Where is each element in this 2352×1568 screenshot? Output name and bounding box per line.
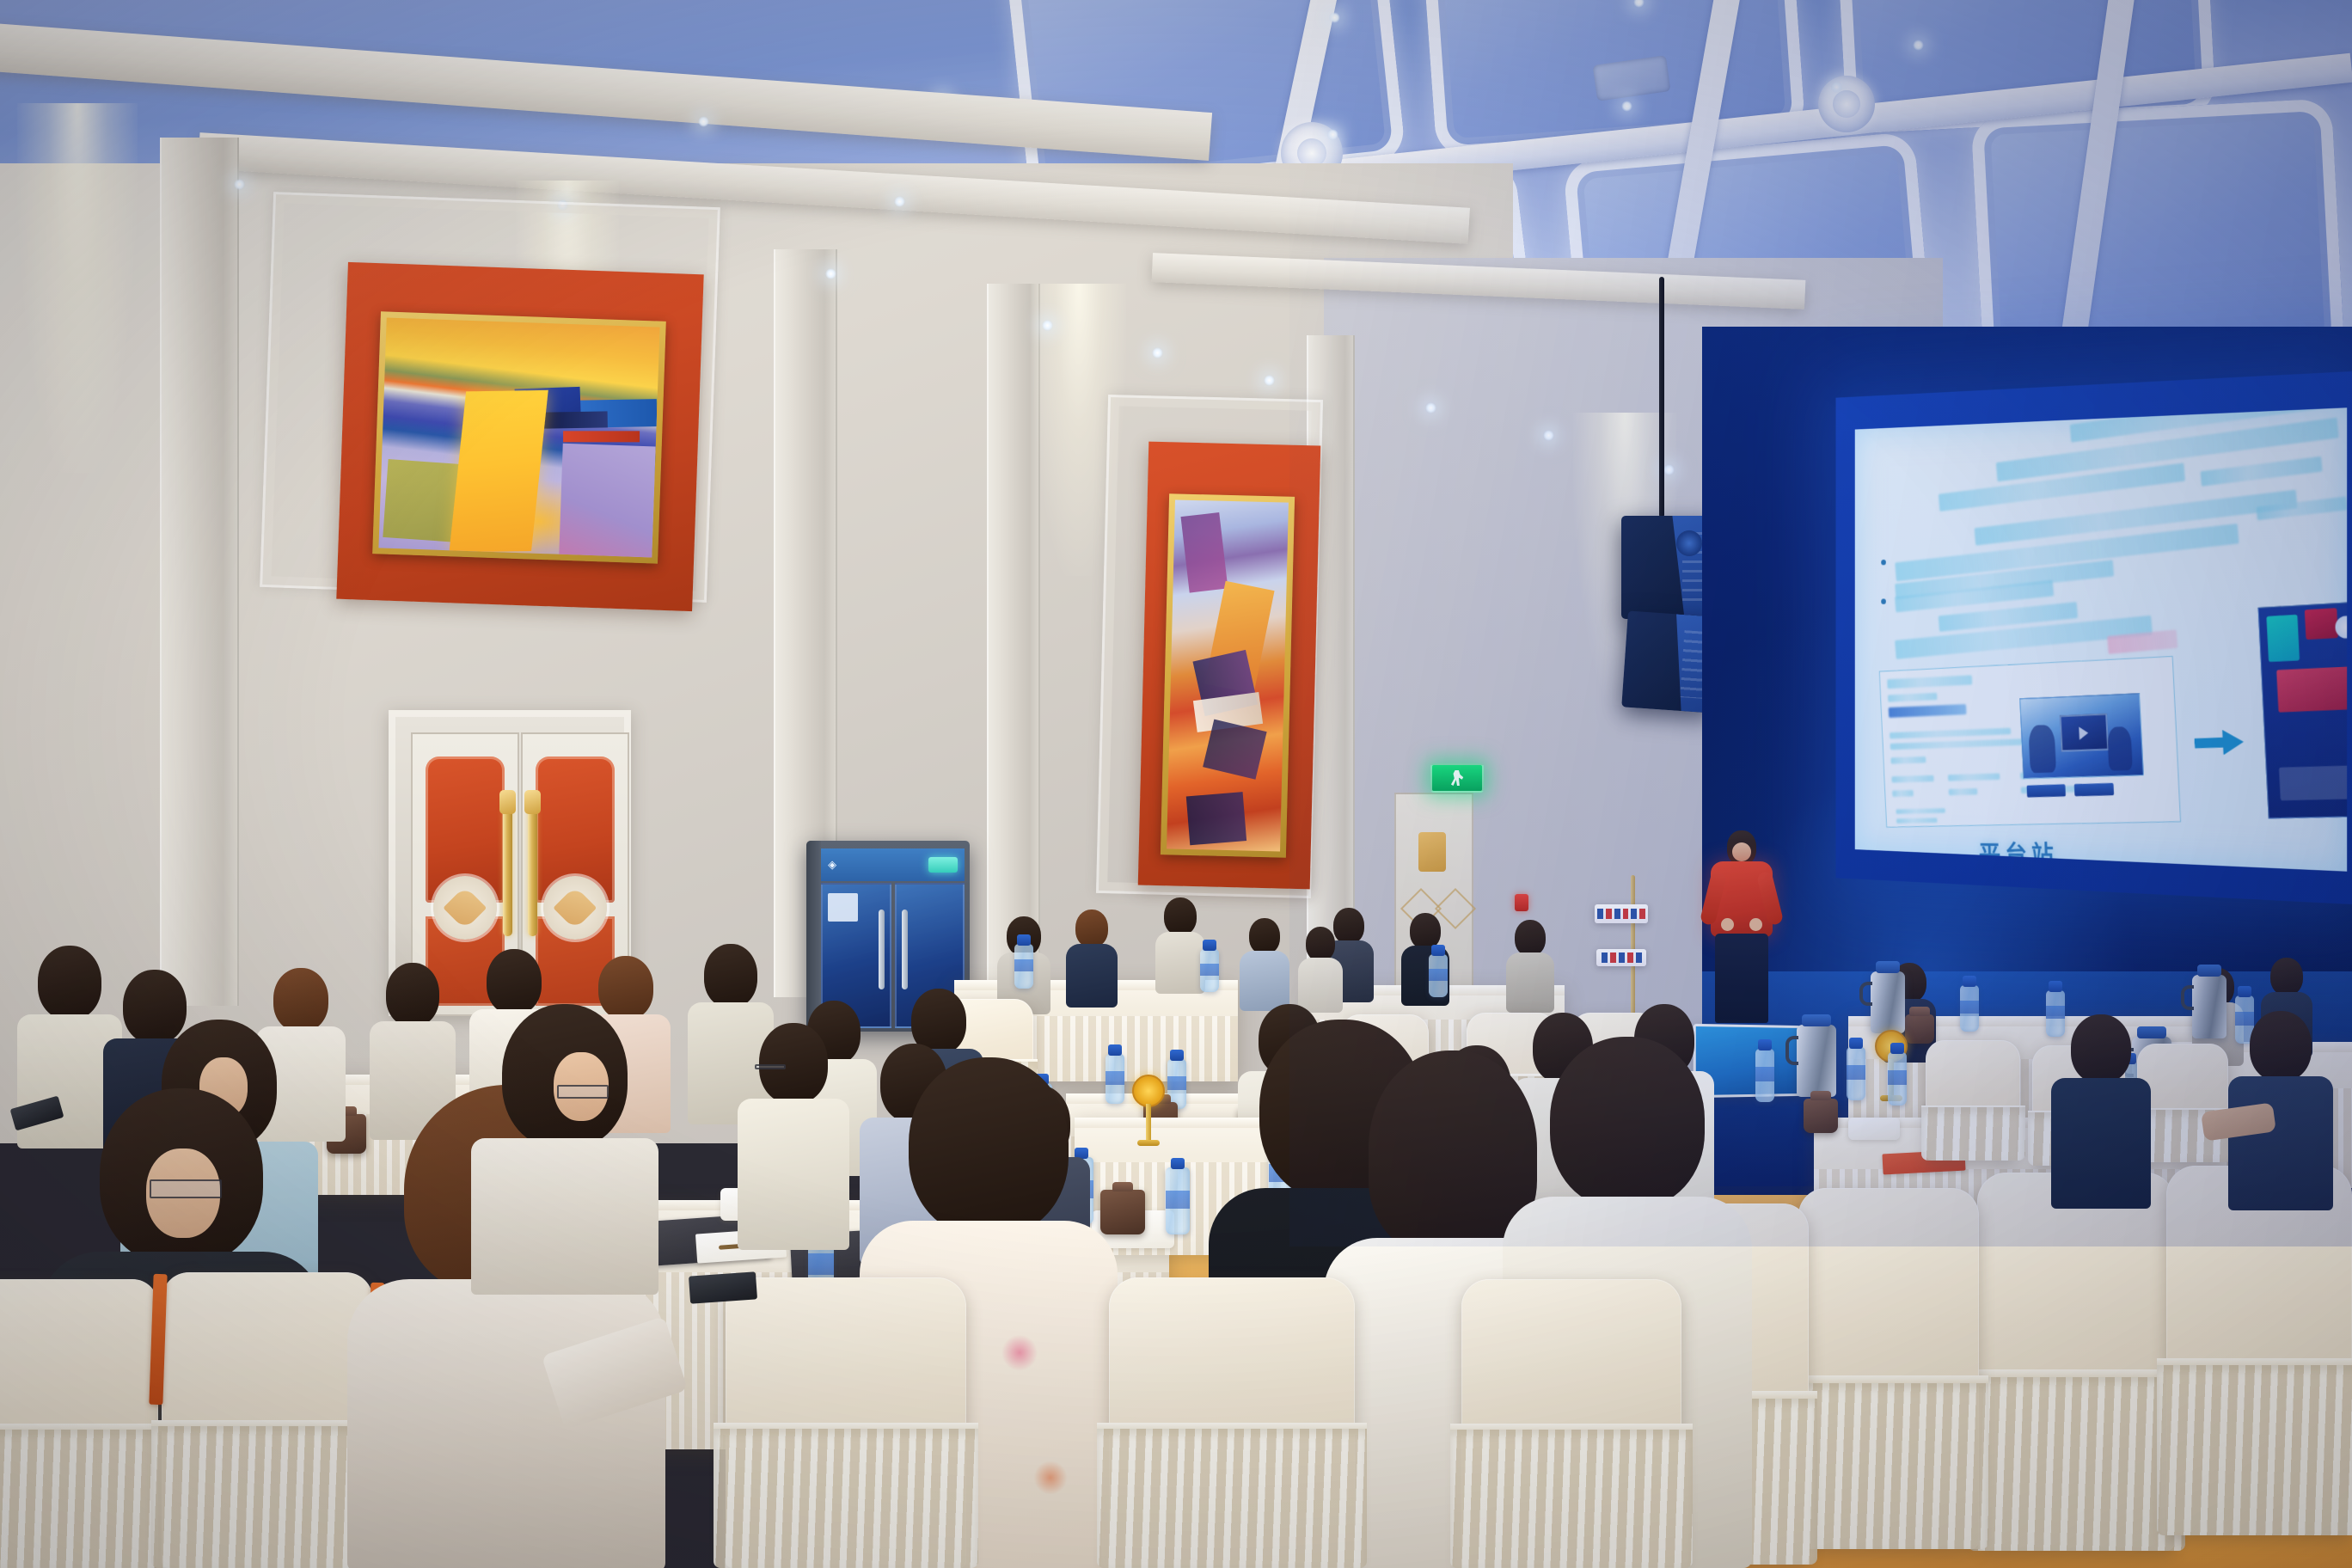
wall-downlight xyxy=(894,196,905,207)
ceiling-spotlight xyxy=(1329,12,1340,23)
banquet-chair xyxy=(1977,1173,2175,1551)
door-ornament xyxy=(1418,832,1446,872)
presenter-hand-left xyxy=(1721,918,1734,931)
slide-thumbnail-button xyxy=(2026,784,2066,797)
thermos-flask xyxy=(1797,1025,1836,1097)
right-arrow-icon xyxy=(2194,729,2245,756)
speaker-suspension-pole xyxy=(1659,277,1664,518)
banquet-chair xyxy=(1926,1040,2020,1161)
presenter xyxy=(1699,830,1785,1028)
abstract-landscape-canvas xyxy=(378,318,659,558)
ceiling-spotlight xyxy=(1621,101,1632,112)
refrigerator-header: ◈ xyxy=(821,848,965,881)
water-bottle xyxy=(1166,1167,1190,1234)
conference-hall-photo: ◈ xyxy=(0,0,2352,1568)
banquet-chair xyxy=(1798,1188,1979,1549)
door-medallion xyxy=(433,876,497,940)
table-number-stand xyxy=(1131,1075,1166,1152)
wall-downlight xyxy=(1663,464,1675,475)
banquet-chair xyxy=(0,1279,158,1568)
attendee xyxy=(1298,927,1343,1009)
slide-caption: 平台站 xyxy=(1978,834,2058,870)
painting-frame-landscape xyxy=(372,311,666,563)
refrigerator-logo: ◈ xyxy=(828,858,837,872)
wall-downlight xyxy=(1425,402,1436,413)
slide-content-card xyxy=(1879,656,2181,828)
wall-notice-sign xyxy=(1595,904,1648,923)
water-bottle xyxy=(1755,1049,1774,1102)
water-bottle xyxy=(1847,1047,1865,1100)
attendee xyxy=(1506,920,1554,1009)
attendee xyxy=(2228,1011,2333,1207)
wall-pilaster xyxy=(987,284,1040,997)
wall-downlight xyxy=(1152,347,1163,358)
ceiling-rosette xyxy=(1818,76,1875,132)
attendee xyxy=(738,1023,849,1246)
glasses-icon xyxy=(150,1179,222,1198)
attendee xyxy=(1155,897,1205,990)
wall-downlight xyxy=(1264,375,1275,386)
thermos-flask xyxy=(2192,975,2226,1038)
wall-pilaster xyxy=(160,138,239,1006)
ceiling-spotlight xyxy=(1327,129,1338,140)
running-person-icon xyxy=(1450,770,1464,786)
glasses-icon xyxy=(755,1064,786,1069)
abstract-vertical-canvas xyxy=(1167,499,1289,851)
ceramic-teapot xyxy=(1905,1014,1934,1044)
ceiling-spotlight xyxy=(1913,40,1924,51)
slide-thumbnail-mobile-app xyxy=(2258,600,2348,818)
painting-frame-vertical xyxy=(1161,493,1295,857)
refrigerator-display xyxy=(928,857,958,873)
slide-thumbnail-button xyxy=(2074,783,2114,796)
folded-napkin xyxy=(1848,1118,1900,1140)
slide-thumbnail-meeting-room xyxy=(2019,693,2144,779)
refrigerator-label xyxy=(828,893,859,922)
projected-slide: 平台站 xyxy=(1855,407,2347,871)
attendee xyxy=(1066,910,1118,1004)
projection-screen: 平台站 xyxy=(1836,371,2352,904)
door-handle-icon[interactable] xyxy=(503,807,512,936)
wall-downlight xyxy=(698,116,709,127)
water-bottle xyxy=(1960,985,1979,1032)
presenter-face xyxy=(1732,842,1751,861)
ceiling-spotlight xyxy=(1831,82,1842,93)
fire-alarm-icon[interactable] xyxy=(1515,894,1528,911)
banquet-chair xyxy=(726,1277,966,1568)
wall-notice-sign xyxy=(1596,949,1646,966)
thermos-flask xyxy=(1871,971,1905,1033)
wall-downlight xyxy=(234,179,245,190)
ceramic-teapot xyxy=(1804,1099,1838,1133)
wall-downlight xyxy=(1543,430,1554,441)
water-bottle xyxy=(1888,1052,1907,1106)
banquet-chair xyxy=(2166,1166,2352,1535)
wall-downlight xyxy=(1042,320,1053,331)
attendee xyxy=(471,1004,658,1288)
presenter-hand-right xyxy=(1749,918,1762,931)
banquet-chair xyxy=(1461,1279,1681,1568)
water-bottle xyxy=(1429,954,1448,997)
water-bottle xyxy=(1200,949,1219,992)
attendee xyxy=(1240,918,1289,1008)
wall-downlight xyxy=(825,268,836,279)
smartphone[interactable] xyxy=(689,1271,757,1303)
attendee xyxy=(2051,1014,2151,1205)
presenter-skirt xyxy=(1715,934,1768,1023)
door-medallion xyxy=(543,876,607,940)
water-bottle xyxy=(1014,944,1033,989)
door-handle-icon[interactable] xyxy=(528,807,537,936)
exit-sign xyxy=(1430,763,1484,793)
glasses-icon xyxy=(557,1085,609,1099)
banquet-chair xyxy=(1109,1277,1355,1568)
banquet-chair xyxy=(162,1272,373,1568)
